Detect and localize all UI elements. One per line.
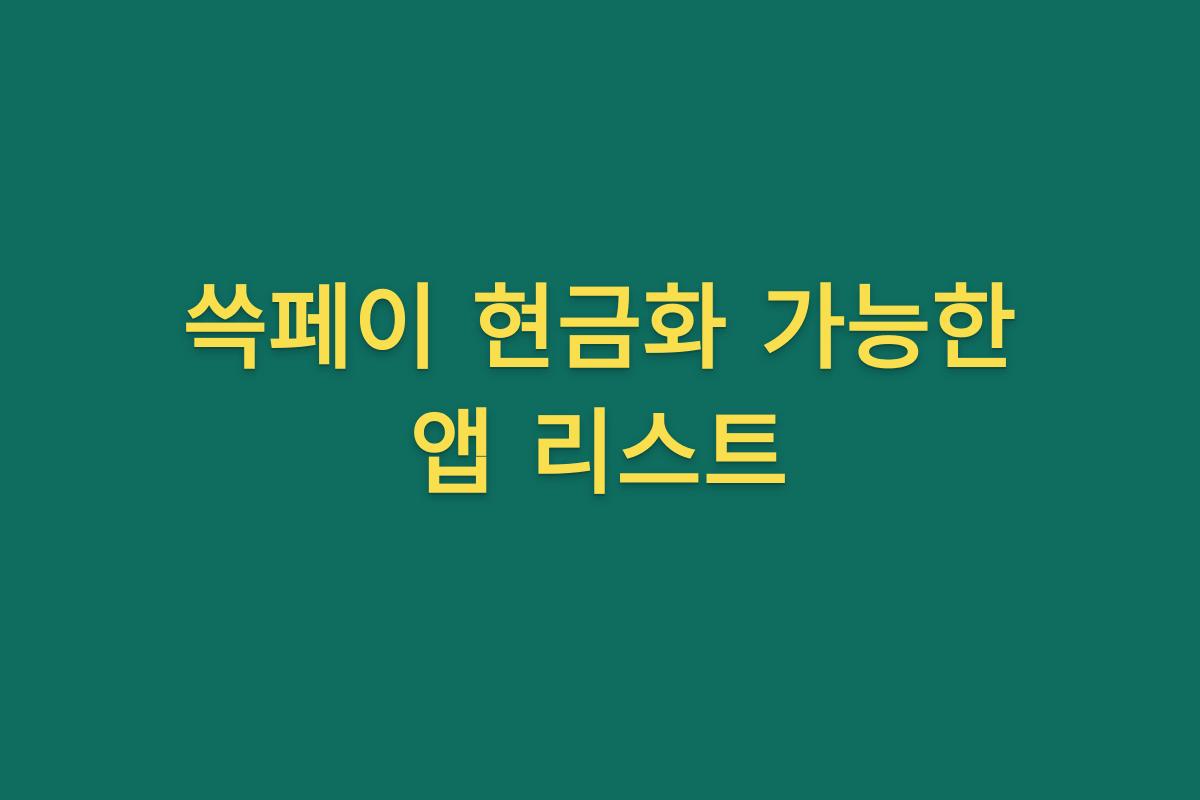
title-line-2: 앱 리스트 xyxy=(40,391,1160,516)
title-line-1: 쓱페이 현금화 가능한 xyxy=(40,266,1160,391)
title-card: 쓱페이 현금화 가능한 앱 리스트 xyxy=(0,0,1200,800)
page-title: 쓱페이 현금화 가능한 앱 리스트 xyxy=(0,266,1200,516)
